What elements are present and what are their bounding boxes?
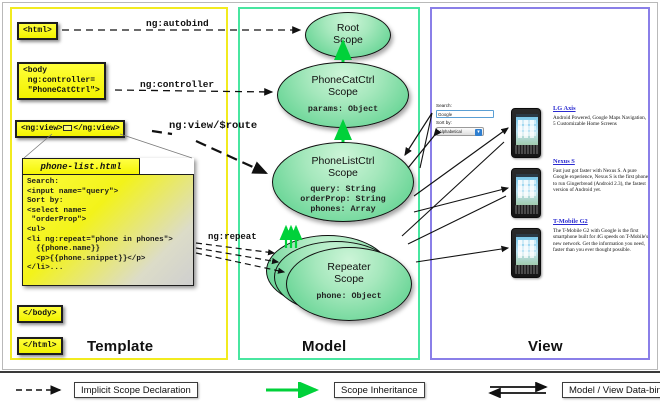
sort-select[interactable]: Alphabetical ▾ bbox=[436, 127, 484, 136]
phone-listing-2: Nexus S Fast just got faster with Nexus … bbox=[553, 158, 649, 194]
panel-title-view: View bbox=[528, 338, 563, 355]
phone-screen-2 bbox=[516, 174, 538, 206]
panel-title-model: Model bbox=[302, 338, 346, 355]
legend-item-implicit-scope: Implicit Scope Declaration bbox=[14, 382, 70, 398]
scope-phonelistctrl-props: query: String orderProp: String phones: … bbox=[273, 184, 413, 214]
panel-title-template: Template bbox=[87, 338, 153, 355]
phone-listing-1-name[interactable]: LG Axis bbox=[553, 105, 649, 113]
sort-select-value: Alphabetical bbox=[439, 129, 462, 134]
phone-thumbnail-2 bbox=[511, 168, 541, 218]
scope-root-title-2: Scope bbox=[306, 34, 390, 46]
ngview-open-tag: <ng:view> bbox=[21, 124, 62, 133]
phone-thumbnail-1 bbox=[511, 108, 541, 158]
search-input[interactable]: Google bbox=[436, 110, 494, 118]
sort-label: Sort by: bbox=[436, 120, 498, 126]
phone-listing-3: T-Mobile G2 The T-Mobile G2 with Google … bbox=[553, 218, 649, 254]
code-box-html-close: </html> bbox=[17, 337, 63, 355]
ngview-placeholder-icon bbox=[63, 125, 72, 131]
phone-listing-1-snippet: Android Powered, Google Maps Navigation,… bbox=[553, 115, 649, 128]
phone-screen-3 bbox=[516, 234, 538, 266]
scope-repeater-props: phone: Object bbox=[287, 291, 411, 301]
scope-root-title-1: Root bbox=[306, 22, 390, 34]
code-box-ngview: <ng:view></ng:view> bbox=[15, 120, 125, 138]
ngview-close-tag: </ng:view> bbox=[73, 124, 119, 133]
phone-thumbnail-3 bbox=[511, 228, 541, 278]
phone-listing-1: LG Axis Android Powered, Google Maps Nav… bbox=[553, 105, 649, 128]
chevron-down-icon: ▾ bbox=[475, 129, 482, 136]
phone-listing-2-name[interactable]: Nexus S bbox=[553, 158, 649, 166]
legend-item-data-binding: Model / View Data-binding bbox=[488, 382, 556, 398]
scope-phonecatctrl-props: params: Object bbox=[278, 104, 408, 114]
scope-phonelistctrl-title-1: PhoneListCtrl bbox=[273, 155, 413, 167]
code-box-body-close: </body> bbox=[17, 305, 63, 323]
legend-item-scope-inheritance: Scope Inheritance bbox=[264, 382, 328, 398]
search-label: Search: bbox=[436, 103, 498, 109]
scope-phonecatctrl: PhoneCatCtrl Scope params: Object bbox=[277, 62, 409, 128]
template-file-card: phone-list.html Search: <input name="que… bbox=[22, 158, 194, 286]
phone-screen-1 bbox=[516, 114, 538, 146]
scope-repeater-stack: Repeater Scope phone: Object bbox=[266, 233, 420, 325]
label-ng-controller: ng:controller bbox=[140, 79, 214, 90]
scope-root: Root Scope bbox=[305, 12, 391, 58]
legend-label-implicit-scope: Implicit Scope Declaration bbox=[74, 382, 198, 398]
phone-listing-2-snippet: Fast just got faster with Nexus S. A pur… bbox=[553, 168, 649, 194]
label-ng-autobind: ng:autobind bbox=[146, 18, 209, 29]
phone-keyboard-3 bbox=[515, 265, 539, 274]
label-ng-repeat: ng:repeat bbox=[208, 232, 257, 242]
phone-listing-3-snippet: The T-Mobile G2 with Google is the first… bbox=[553, 228, 649, 254]
legend-label-data-binding: Model / View Data-binding bbox=[562, 382, 660, 398]
scope-repeater: Repeater Scope phone: Object bbox=[286, 247, 412, 321]
legend-dashed-arrow-icon bbox=[14, 382, 70, 398]
phone-keyboard-1 bbox=[515, 145, 539, 154]
scope-phonelistctrl: PhoneListCtrl Scope query: String orderP… bbox=[272, 142, 414, 222]
scope-phonecatctrl-title-2: Scope bbox=[278, 86, 408, 98]
template-file-name: phone-list.html bbox=[22, 158, 140, 175]
view-search-form: Search: Google Sort by: Alphabetical ▾ bbox=[436, 103, 498, 136]
scope-phonelistctrl-title-2: Scope bbox=[273, 167, 413, 179]
phone-listing-3-name[interactable]: T-Mobile G2 bbox=[553, 218, 649, 226]
template-file-code: Search: <input name="query"> Sort by: <s… bbox=[22, 174, 194, 286]
legend-double-arrow-icon bbox=[488, 382, 556, 398]
label-ng-view-route: ng:view/$route bbox=[169, 120, 257, 132]
code-box-html-open: <html> bbox=[17, 22, 58, 40]
phone-keyboard-2 bbox=[515, 205, 539, 214]
scope-repeater-title-1: Repeater bbox=[287, 261, 411, 273]
legend-green-arrow-icon bbox=[264, 382, 328, 398]
legend-label-scope-inheritance: Scope Inheritance bbox=[334, 382, 425, 398]
code-box-body-open: <body ng:controller= "PhoneCatCtrl"> bbox=[17, 62, 106, 100]
scope-phonecatctrl-title-1: PhoneCatCtrl bbox=[278, 74, 408, 86]
scope-repeater-title-2: Scope bbox=[287, 273, 411, 285]
diagram-canvas: Template Model View <html> <body ng:cont… bbox=[0, 0, 660, 405]
